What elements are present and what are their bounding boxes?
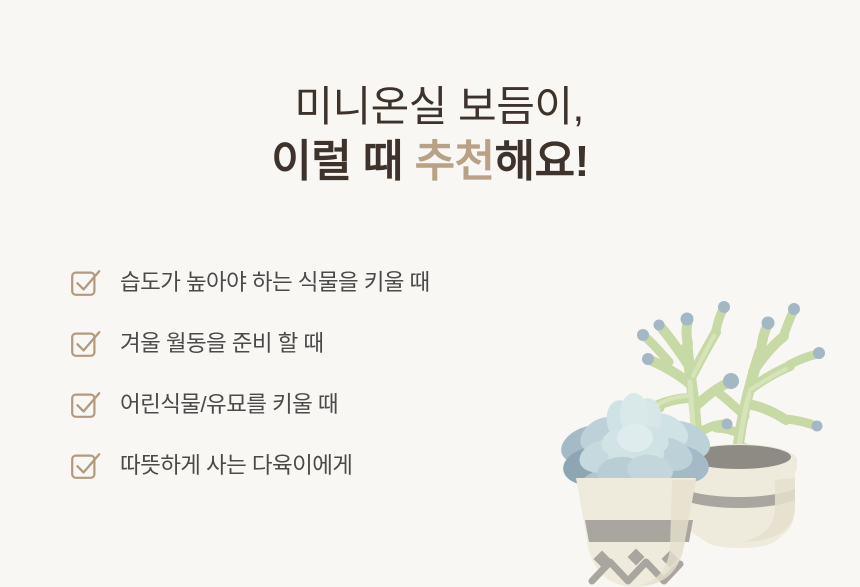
small-pot-diamond-pattern (594, 549, 679, 568)
list-item: 습도가 높아야 하는 식물을 키울 때 (70, 263, 590, 303)
green-plant-graphic (625, 301, 825, 477)
list-item-label: 어린식물/유묘를 키울 때 (120, 394, 338, 417)
checkbox-checked-icon (70, 268, 100, 298)
checkbox-checked-icon (70, 390, 100, 420)
list-item-label: 습도가 높아야 하는 식물을 키울 때 (120, 272, 430, 295)
checkbox-checked-icon (70, 329, 100, 359)
page-title-line-2: 이럴 때 추천해요! (0, 140, 860, 184)
page-title: 미니온실 보듬이, 이럴 때 추천해요! (0, 86, 860, 184)
page-title-line-1: 미니온실 보듬이, (0, 86, 860, 128)
page-title-line-2-suffix: 해요! (495, 137, 589, 186)
small-pot-zigzag-pattern (592, 562, 680, 581)
list-item-label: 겨울 월동을 준비 할 때 (120, 333, 324, 356)
promo-banner: 미니온실 보듬이, 이럴 때 추천해요! 습도가 높아야 하는 식물을 키울 때… (0, 0, 860, 587)
list-item: 겨울 월동을 준비 할 때 (70, 324, 590, 364)
list-item-label: 따뜻하게 사는 다육이에게 (120, 455, 352, 478)
small-pot-graphic (576, 478, 696, 587)
large-pot-graphic (681, 444, 797, 548)
recommendation-checklist: 습도가 높아야 하는 식물을 키울 때 겨울 월동을 준비 할 때 어린식물/유… (70, 263, 590, 486)
page-title-line-2-prefix: 이럴 때 (271, 137, 414, 186)
page-title-accent: 추천 (415, 137, 495, 186)
list-item: 어린식물/유묘를 키울 때 (70, 385, 590, 425)
checkbox-checked-icon (70, 451, 100, 481)
list-item: 따뜻하게 사는 다육이에게 (70, 446, 590, 486)
